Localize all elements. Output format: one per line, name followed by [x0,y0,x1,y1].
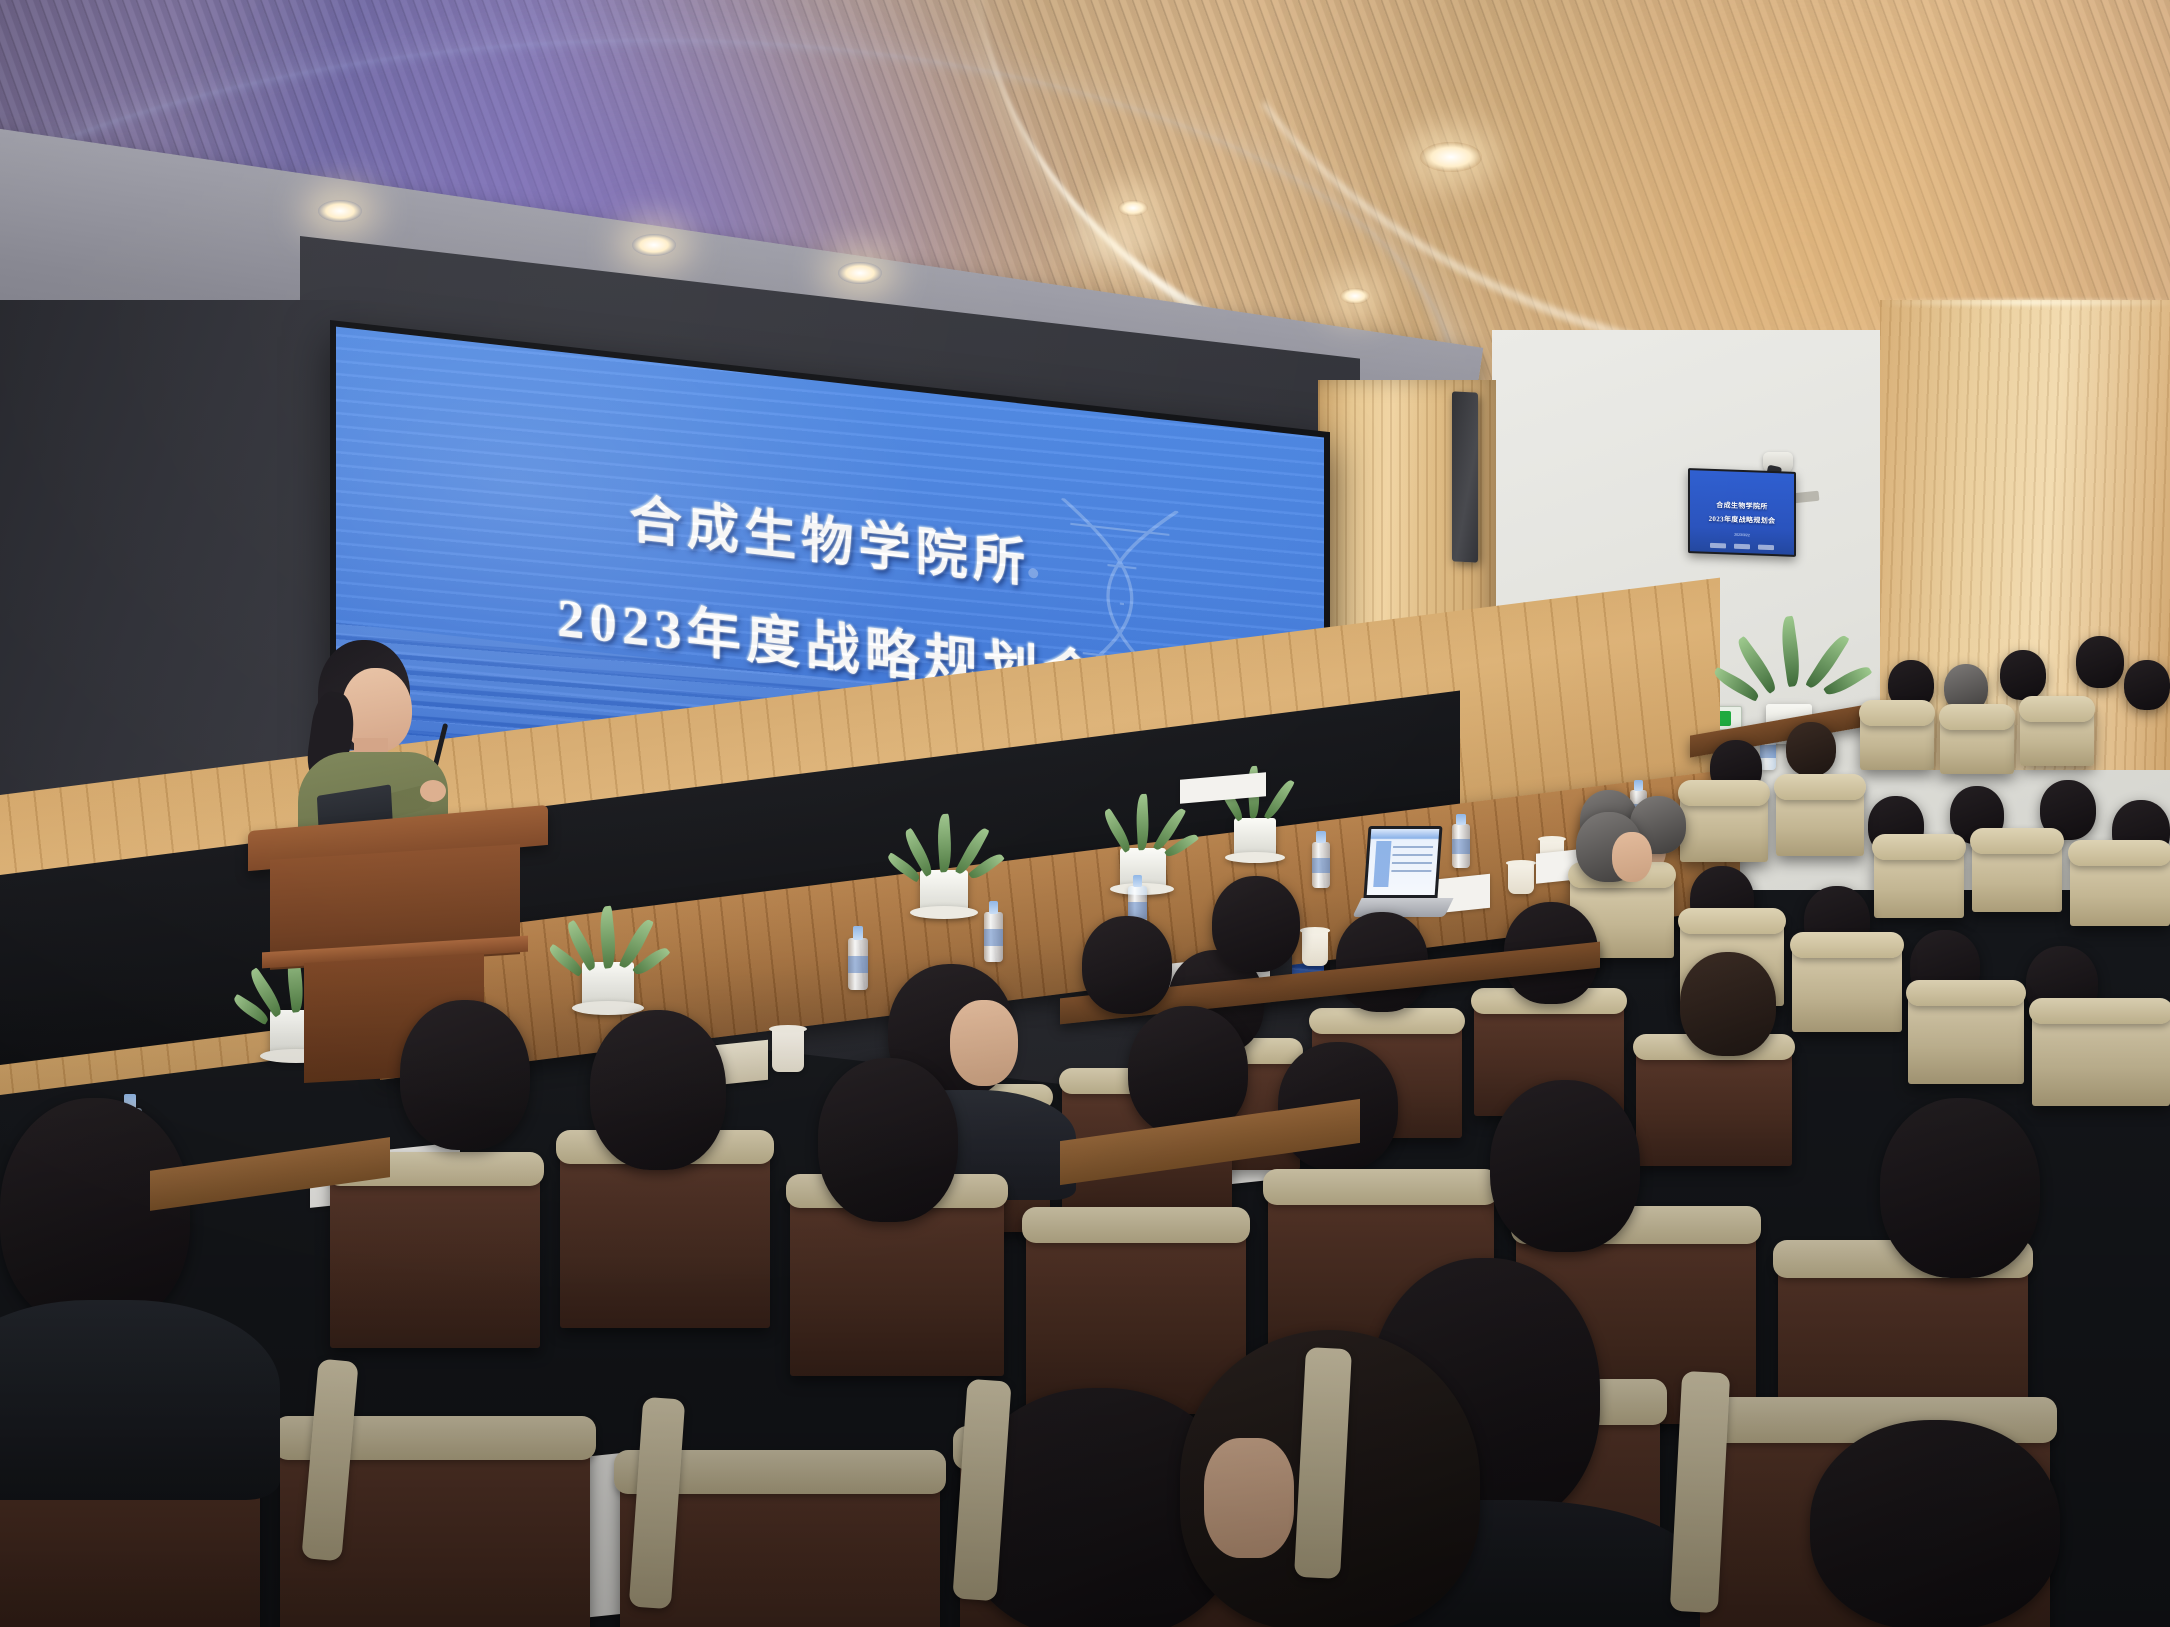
auditorium-seat [2020,708,2094,766]
attendee-head [400,1000,530,1150]
plant-leaf [598,906,618,969]
wall-monitor-logo-1 [1710,543,1726,549]
wall-monitor-logo-3 [1758,545,1774,551]
water-bottle [848,938,868,990]
attendee-head [1786,722,1836,776]
attendee-head [1880,1098,2040,1278]
presenter-hand [420,780,446,802]
potted-plant-2 [900,810,990,914]
wall-monitor: 合成生物学院所 2023年度战略规划会 2023/3/22 [1688,468,1796,557]
attendee-face [1204,1438,1294,1558]
attendee-head [818,1058,958,1222]
attendee-head [590,1010,726,1170]
laptop-screen-sidebar [1373,841,1391,887]
plant-saucer [910,906,978,919]
auditorium-photo: 合成生物学院所 2023年度战略规划会 2023/3/22 [0,0,2170,1627]
laptop-screen-text-lines [1391,846,1433,878]
wall-monitor-logos [1710,543,1774,550]
auditorium-seat [1636,1046,1792,1166]
plant-leaf [1100,808,1134,853]
plant-saucer [1225,852,1285,863]
auditorium-seat [1874,846,1964,918]
seat-headrest [1678,780,1770,806]
attendee-head [0,1098,190,1328]
laptop-lid [1363,826,1442,898]
seat-headrest [1022,1207,1251,1243]
wall-monitor-logo-2 [1734,544,1750,550]
auditorium-seat [1940,716,2014,774]
auditorium-seat [1908,992,2024,1084]
paper-coffee-cup [772,1028,804,1072]
auditorium-seat [1860,712,1934,770]
plant-leaf [1264,778,1295,822]
auditorium-seat [1972,840,2062,912]
laptop-screen [1367,829,1440,895]
seat-headrest [1872,834,1966,860]
wall-speaker-left [1452,391,1478,562]
potted-plant-1 [560,900,656,1010]
seat-headrest [2068,840,2170,866]
water-bottle [984,912,1003,962]
seat-headrest [1263,1169,1498,1205]
seat-headrest [1906,980,2027,1006]
attendee-face-elder [1612,832,1652,882]
wall-wood-edge-light [1880,300,2170,305]
seat-headrest [1859,700,1936,726]
plant-leaf [1778,616,1803,687]
auditorium-seat [560,1146,770,1328]
paper-coffee-cup [1302,930,1328,966]
ceiling-speaker-dome [1420,142,1482,172]
ceiling-downlight-5 [1340,288,1370,304]
attendee-head [2076,636,2124,688]
attendee-head [1082,916,1172,1014]
seat-headrest [1774,774,1866,800]
auditorium-seat [2070,852,2170,926]
water-bottle [1452,824,1470,868]
attendee-head [2000,650,2046,700]
attendee-face [950,1000,1018,1086]
potted-plant-3 [1100,790,1186,890]
seat-headrest [2029,998,2170,1024]
ceiling-downlight-4 [1118,200,1148,216]
seat-headrest [2019,696,2096,722]
ceiling-spot-glow-1 [1044,208,1194,278]
wall-monitor-screen: 合成生物学院所 2023年度战略规划会 2023/3/22 [1690,470,1794,555]
attendee-shoulders [0,1300,280,1500]
water-bottle [1312,842,1330,888]
auditorium-seat [1776,786,1864,856]
attendee-head [2124,660,2170,710]
ceiling-downlight-2 [632,234,676,256]
attendee-head [1490,1080,1640,1252]
auditorium-seat [1792,944,1902,1032]
ceiling-downlight-3 [838,262,882,284]
seat-headrest [1939,704,2016,730]
attendee-head [1680,952,1776,1056]
paper-coffee-cup [1508,862,1534,894]
auditorium-seat [330,1168,540,1348]
attendee-head [1810,1420,2060,1627]
plant-leaf [936,814,953,873]
plant-saucer [572,1001,644,1015]
attendee-head [1212,876,1300,972]
seat-headrest [1790,932,1904,958]
attendee-laptop [1366,826,1440,898]
seat-headrest [1970,828,2064,854]
wall-monitor-title-line1: 合成生物学院所 [1716,500,1767,512]
auditorium-seat [1680,792,1768,862]
wall-monitor-title-line2: 2023年度战略规划会 [1709,513,1776,525]
wall-monitor-date: 2023/3/22 [1734,533,1750,538]
seat-headrest [1678,908,1786,934]
plant-leaf [1135,794,1150,851]
ceiling-downlight-1 [318,200,362,222]
auditorium-seat [2032,1010,2170,1106]
